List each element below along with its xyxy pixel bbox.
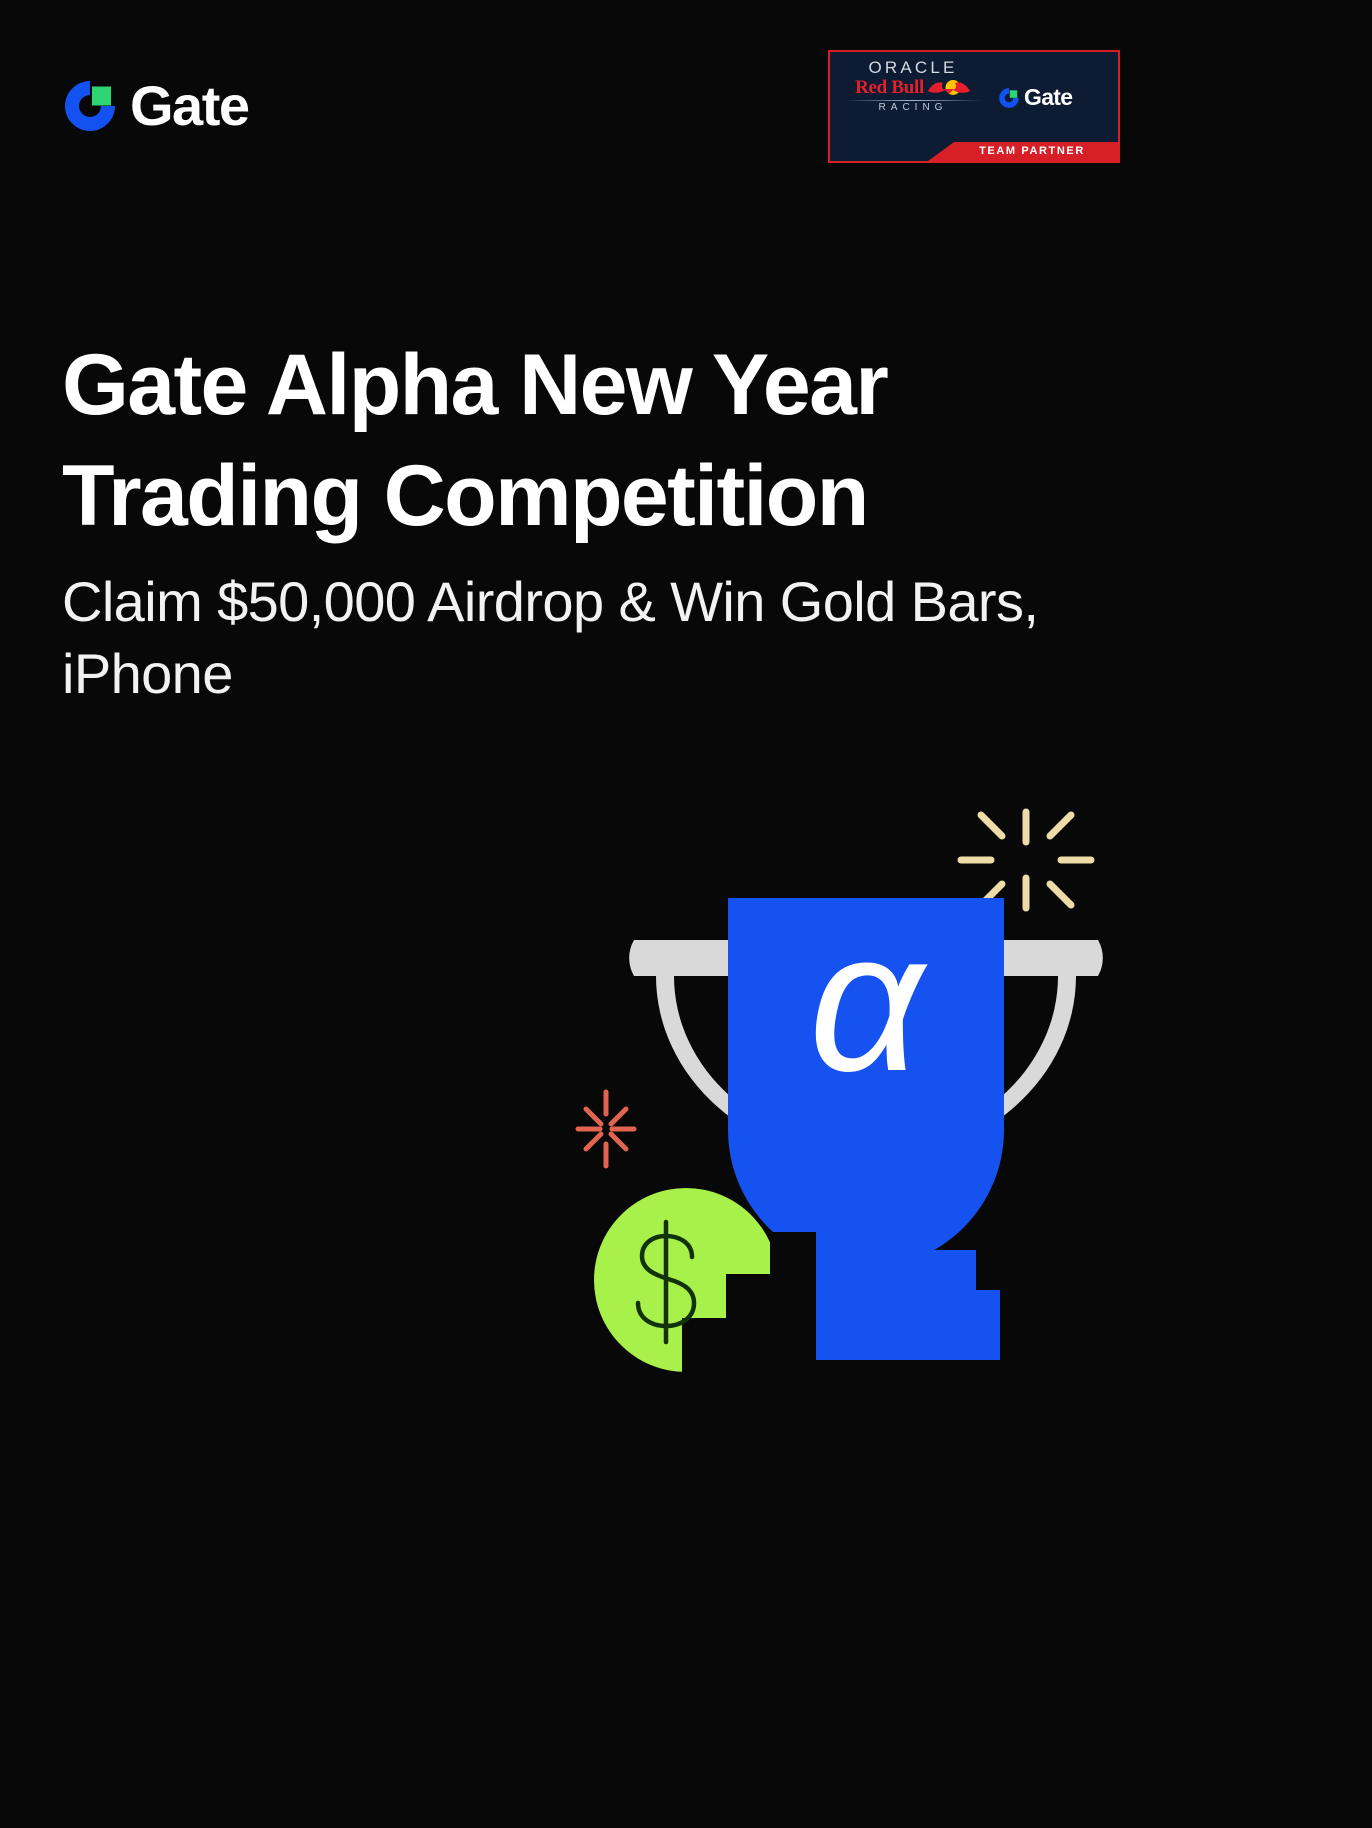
alpha-trophy-illustration: α — [556, 770, 1176, 1410]
badge-divider — [844, 100, 982, 101]
racing-wordmark: RACING — [840, 103, 986, 113]
oracle-red-bull-racing-lockup: ORACLE Red Bull RACING — [840, 59, 986, 113]
promo-banner-page: Gate ORACLE Red Bull — [0, 0, 1372, 1828]
gate-wordmark: Gate — [130, 78, 249, 134]
page-subtitle: Claim $50,000 Airdrop & Win Gold Bars, i… — [62, 566, 1102, 709]
oracle-wordmark: ORACLE — [840, 59, 986, 77]
red-bull-team-partner-badge[interactable]: ORACLE Red Bull RACING — [828, 50, 1120, 163]
badge-gate-wordmark: Gate — [1024, 86, 1072, 109]
gate-brand-logo[interactable]: Gate — [62, 78, 249, 134]
sparkle-gold-icon — [961, 812, 1091, 908]
page-title: Gate Alpha New Year Trading Competition — [62, 330, 962, 554]
alpha-symbol: α — [809, 890, 928, 1113]
red-bull-wordmark: Red Bull — [855, 78, 924, 97]
gate-logo-icon — [998, 87, 1020, 109]
red-bull-charging-bulls-icon — [927, 78, 971, 98]
badge-gate-logo: Gate — [998, 86, 1072, 109]
sparkle-red-icon — [578, 1092, 634, 1166]
team-partner-label: TEAM PARTNER — [979, 146, 1085, 157]
team-partner-ribbon: TEAM PARTNER — [928, 142, 1118, 161]
gate-logo-icon — [62, 78, 118, 134]
